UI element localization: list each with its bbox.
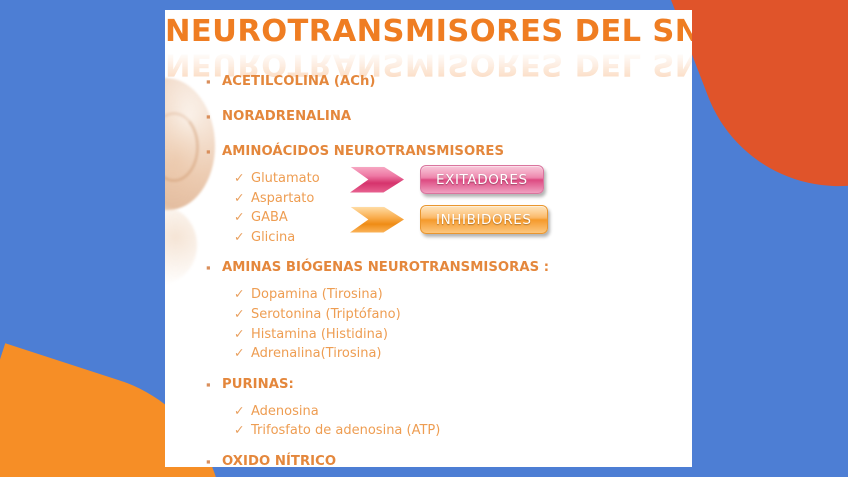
chevron-right-icon [350,167,404,193]
check-icon: ✓ [234,325,251,345]
callout-exitadores[interactable]: EXITADORES [350,165,544,194]
chevron-right-icon [350,207,404,233]
list-item-aminas-biogenas[interactable]: ▪ AMINAS BIÓGENAS NEUROTRANSMISORAS : [205,258,675,278]
list-item-purinas[interactable]: ▪ PURINAS: [205,375,675,395]
spacer [205,364,675,375]
list-item-label: NORADRENALINA [222,107,351,127]
sub-item-label: Glutamato [251,169,320,189]
check-icon: ✓ [234,402,251,422]
spacer [205,441,675,452]
sub-item-label: GABA [251,208,288,228]
slide-canvas: NEUROTRANSMISORES DEL SNC NEUROTRANSMISO… [0,0,848,477]
sub-item-atp[interactable]: ✓ Trifosfato de adenosina (ATP) [234,421,675,441]
sub-item-dopamina[interactable]: ✓ Dopamina (Tirosina) [234,285,675,305]
page-title: NEUROTRANSMISORES DEL SNC [165,16,692,48]
check-icon: ✓ [234,228,251,248]
title-block: NEUROTRANSMISORES DEL SNC NEUROTRANSMISO… [165,16,692,80]
sub-item-adrenalina[interactable]: ✓ Adrenalina(Tirosina) [234,344,675,364]
sub-item-histamina[interactable]: ✓ Histamina (Histidina) [234,325,675,345]
check-icon: ✓ [234,305,251,325]
badge-inhibidores[interactable]: INHIBIDORES [420,205,548,234]
brain-watermark-secondary-icon [165,206,197,284]
sub-item-label: Aspartato [251,189,314,209]
list-item-label: AMINAS BIÓGENAS NEUROTRANSMISORAS : [222,258,549,278]
bullet-icon: ▪ [205,258,222,278]
bullet-icon: ▪ [205,375,222,395]
list-item-label: PURINAS: [222,375,294,395]
spacer [205,134,675,142]
list-item-oxido-nitrico[interactable]: ▪ OXIDO NÍTRICO [205,452,675,467]
check-icon: ✓ [234,421,251,441]
sub-item-serotonina[interactable]: ✓ Serotonina (Triptófano) [234,305,675,325]
badge-exitadores[interactable]: EXITADORES [420,165,544,194]
check-icon: ✓ [234,344,251,364]
check-icon: ✓ [234,208,251,228]
list-item-aminoacidos[interactable]: ▪ AMINOÁCIDOS NEUROTRANSMISORES [205,142,675,162]
sub-item-label: Serotonina (Triptófano) [251,305,401,325]
bullet-icon: ▪ [205,452,222,467]
check-icon: ✓ [234,189,251,209]
content-panel: NEUROTRANSMISORES DEL SNC NEUROTRANSMISO… [165,10,692,467]
sub-item-label: Glicina [251,228,295,248]
decoration-top-right [669,0,848,227]
bullet-icon: ▪ [205,72,222,92]
list-item-label: OXIDO NÍTRICO [222,452,336,467]
list-item-label: AMINOÁCIDOS NEUROTRANSMISORES [222,142,504,162]
list-item-acetilcolina[interactable]: ▪ ACETILCOLINA (ACh) [205,72,675,92]
callout-inhibidores[interactable]: INHIBIDORES [350,205,548,234]
check-icon: ✓ [234,285,251,305]
list-item-noradrenalina[interactable]: ▪ NORADRENALINA [205,107,675,127]
sub-item-adenosina[interactable]: ✓ Adenosina [234,402,675,422]
bullet-icon: ▪ [205,107,222,127]
callouts-group: EXITADORES INHIBIDORES [350,165,580,253]
sub-item-label: Trifosfato de adenosina (ATP) [251,421,440,441]
sub-item-label: Adenosina [251,402,319,422]
sub-item-label: Histamina (Histidina) [251,325,388,345]
bullet-icon: ▪ [205,142,222,162]
sub-item-label: Adrenalina(Tirosina) [251,344,382,364]
neurotransmitter-list: ▪ ACETILCOLINA (ACh) ▪ NORADRENALINA ▪ A… [205,72,675,467]
spacer [205,99,675,107]
list-item-label: ACETILCOLINA (ACh) [222,72,375,92]
check-icon: ✓ [234,169,251,189]
sub-item-label: Dopamina (Tirosina) [251,285,383,305]
